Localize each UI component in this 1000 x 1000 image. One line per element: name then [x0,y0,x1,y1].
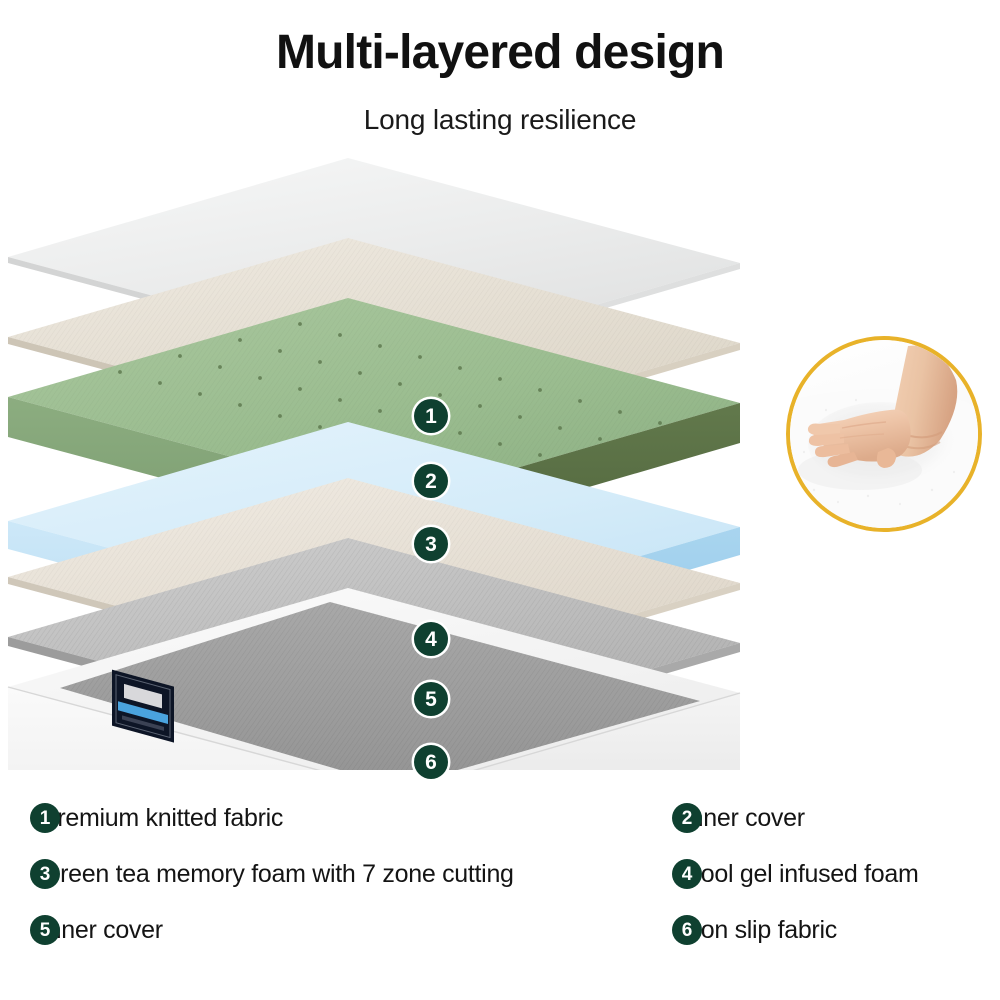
legend-badge-4: 4 [672,859,702,889]
legend-label-6: Non slip fabric [683,916,837,945]
legend-column-right: 2 Inner cover 4 Cool gel infused foam 6 … [672,790,1000,958]
legend-badge-5: 5 [30,915,60,945]
legend-label-4: Cool gel infused foam [683,860,919,889]
layer-badge-2: 2 [414,464,448,498]
legend-item-6: 6 Non slip fabric [672,902,1000,958]
legend-badge-2: 2 [672,803,702,833]
legend-item-3: 3 Green tea memory foam with 7 zone cutt… [30,846,670,902]
page-title: Multi-layered design [0,28,1000,78]
legend-label-3: Green tea memory foam with 7 zone cuttin… [41,860,514,889]
legend: 1 Premium knitted fabric 3 Green tea mem… [0,790,1000,960]
layer-badge-6: 6 [414,745,448,779]
legend-badge-3: 3 [30,859,60,889]
hand-pressing-foam-inset [786,336,982,532]
legend-label-1: Premium knitted fabric [41,804,283,833]
exploded-layer-diagram: 1 2 3 4 5 6 [0,150,790,770]
legend-item-4: 4 Cool gel infused foam [672,846,1000,902]
layer-badge-4: 4 [414,622,448,656]
legend-item-2: 2 Inner cover [672,790,1000,846]
legend-item-5: 5 Inner cover [30,902,670,958]
page-subtitle: Long lasting resilience [0,104,1000,136]
legend-badge-1: 1 [30,803,60,833]
legend-item-1: 1 Premium knitted fabric [30,790,670,846]
layer-badge-5: 5 [414,682,448,716]
legend-badge-6: 6 [672,915,702,945]
foam-photo-content [790,340,978,528]
layer-badge-1: 1 [414,399,448,433]
product-infographic: Multi-layered design Long lasting resili… [0,0,1000,1000]
layer-badge-3: 3 [414,527,448,561]
legend-column-left: 1 Premium knitted fabric 3 Green tea mem… [30,790,670,958]
